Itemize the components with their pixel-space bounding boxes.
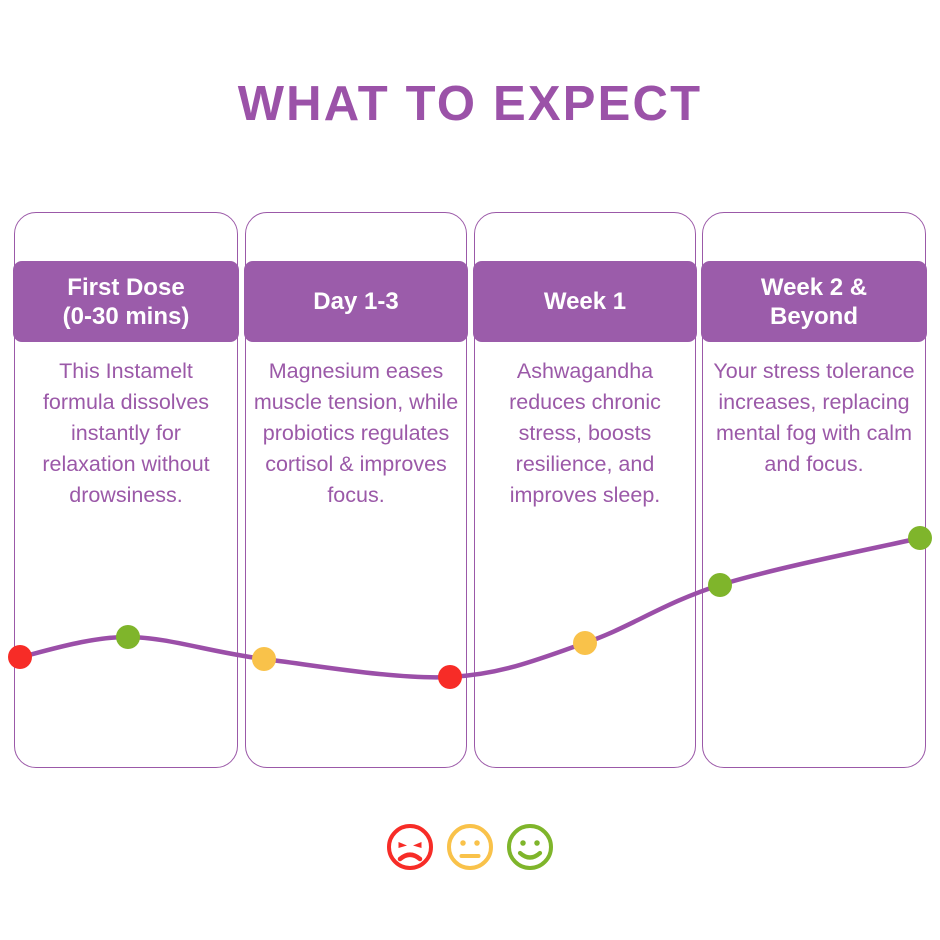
mood-legend: [0, 822, 940, 872]
stage-card-week-2-beyond: Week 2 & Beyond Your stress tolerance in…: [702, 212, 926, 768]
card-header-line1: Week 2 &: [761, 274, 867, 301]
angry-face-icon: [385, 822, 435, 872]
card-header-first-dose: First Dose (0-30 mins): [13, 261, 238, 342]
stage-card-day-1-3: Day 1-3 Magnesium eases muscle tension, …: [245, 212, 467, 768]
neutral-face-icon: [445, 822, 495, 872]
card-header-day-1-3: Day 1-3: [244, 261, 467, 342]
card-body-week-2-beyond: Your stress tolerance increases, replaci…: [703, 356, 925, 480]
card-header-text: Week 2 & Beyond: [755, 273, 873, 331]
card-body-week-1: Ashwagandha reduces chronic stress, boos…: [475, 356, 695, 511]
card-body-day-1-3: Magnesium eases muscle tension, while pr…: [246, 356, 466, 511]
card-header-line2: (0-30 mins): [63, 303, 190, 330]
infographic-root: WHAT TO EXPECT First Dose (0-30 mins) Th…: [0, 0, 940, 940]
card-header-text: First Dose (0-30 mins): [57, 273, 196, 331]
stage-card-week-1: Week 1 Ashwagandha reduces chronic stres…: [474, 212, 696, 768]
card-header-week-2-beyond: Week 2 & Beyond: [701, 261, 926, 342]
cards-container: First Dose (0-30 mins) This Instamelt fo…: [0, 0, 940, 940]
card-body-first-dose: This Instamelt formula dissolves instant…: [15, 356, 237, 511]
card-header-text: Day 1-3: [307, 287, 404, 316]
card-header-week-1: Week 1: [473, 261, 696, 342]
card-header-line1: First Dose: [67, 274, 184, 301]
happy-face-icon: [505, 822, 555, 872]
stage-card-first-dose: First Dose (0-30 mins) This Instamelt fo…: [14, 212, 238, 768]
card-header-line2: Beyond: [770, 303, 858, 330]
card-header-text: Week 1: [538, 287, 632, 316]
